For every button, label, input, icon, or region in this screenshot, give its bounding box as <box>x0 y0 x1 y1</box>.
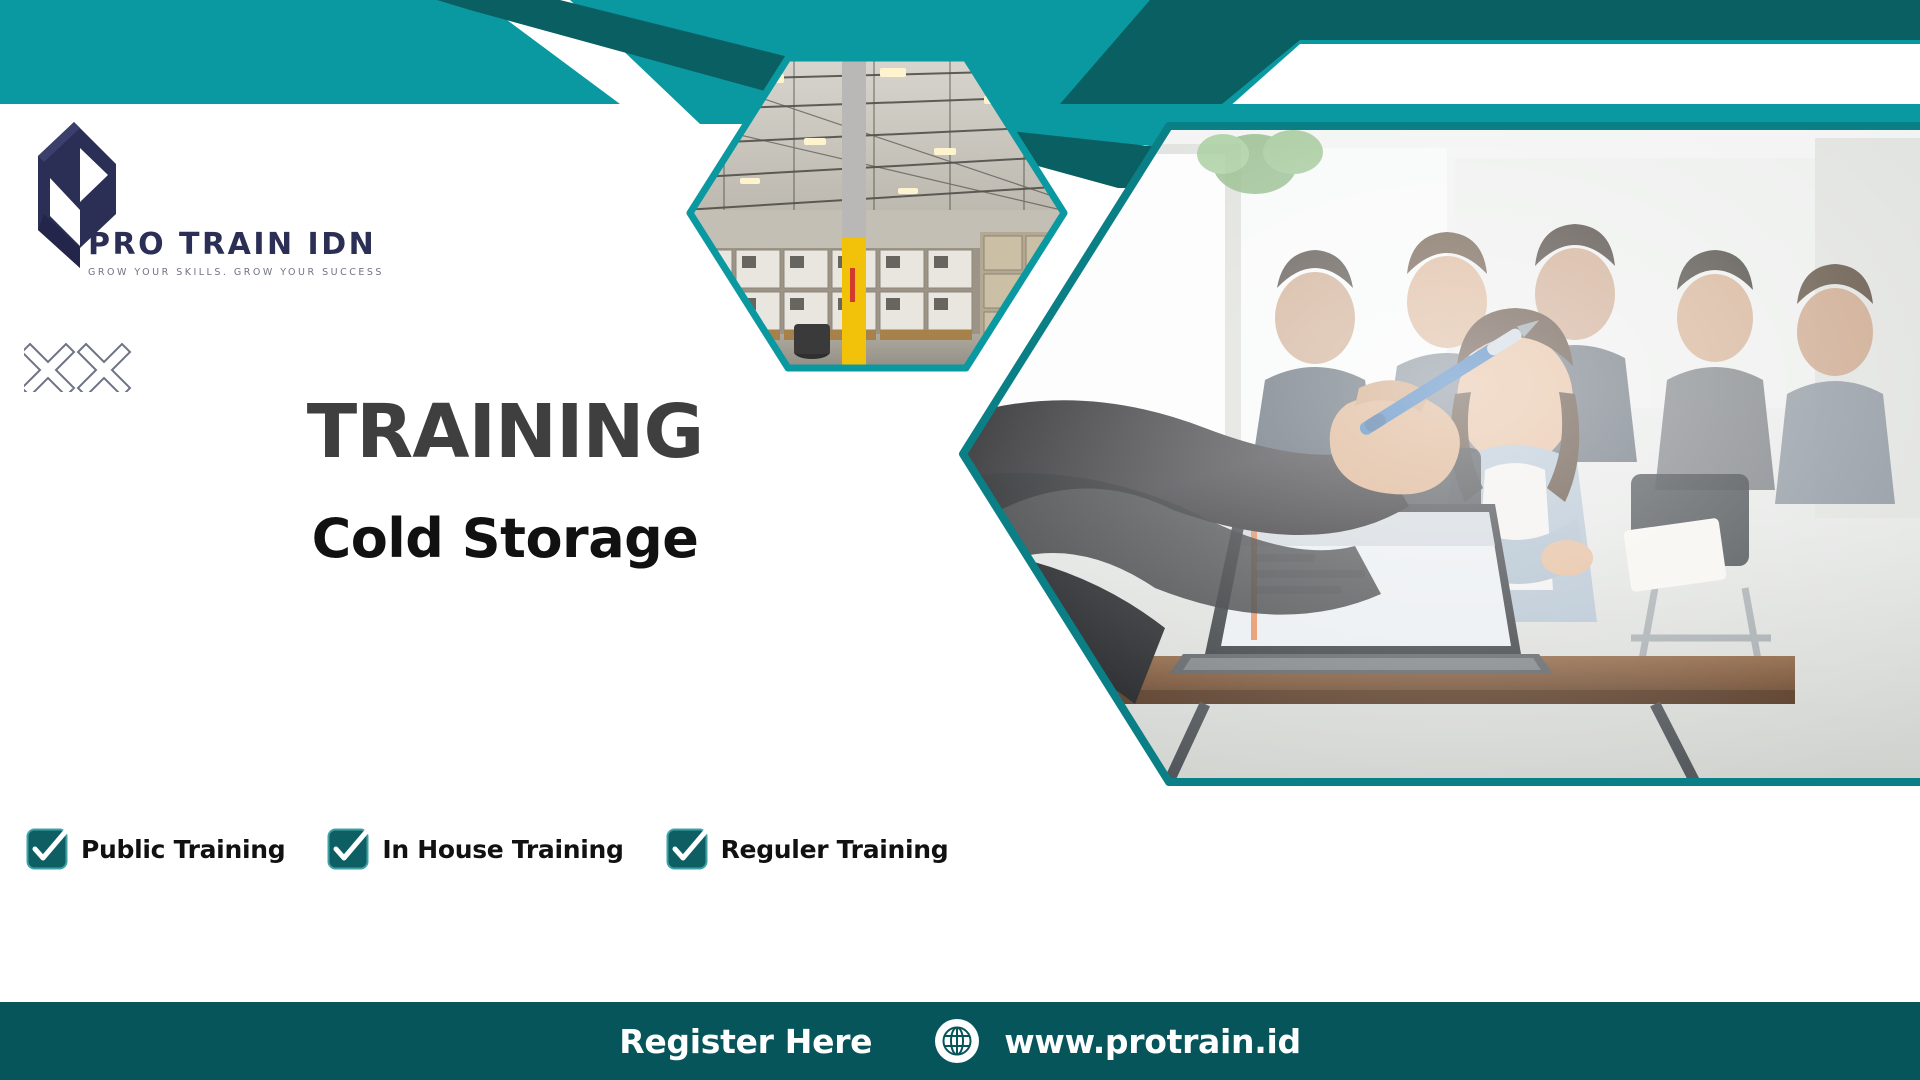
promotional-poster: PRO TRAIN IDN GROW YOUR SKILLS. GROW YOU… <box>0 0 1920 1080</box>
checkmark-icon <box>327 828 369 870</box>
page-title: TRAINING <box>0 395 1010 469</box>
checkmark-icon <box>26 828 68 870</box>
globe-icon <box>934 1018 980 1064</box>
brand-name: PRO TRAIN IDN <box>88 230 384 260</box>
brand-logo-text: PRO TRAIN IDN GROW YOUR SKILLS. GROW YOU… <box>88 230 384 278</box>
training-classroom-content <box>955 118 1920 790</box>
page-subtitle: Cold Storage <box>0 512 1010 566</box>
list-item-label: Reguler Training <box>721 835 949 864</box>
band-dark-topright <box>1060 0 1920 104</box>
list-item[interactable]: In House Training <box>327 828 623 870</box>
website-url[interactable]: www.protrain.id <box>1004 1022 1301 1061</box>
list-item[interactable]: Public Training <box>26 828 285 870</box>
training-classroom-photo <box>955 118 1920 790</box>
x-decoration-left <box>24 340 132 397</box>
footer-bar: Register Here www.protrain.id <box>0 1002 1920 1080</box>
x-decoration-middle <box>938 892 1046 949</box>
register-here-label[interactable]: Register Here <box>619 1022 872 1061</box>
headline-block: TRAINING Cold Storage <box>0 395 1010 566</box>
website-block[interactable]: www.protrain.id <box>934 1018 1301 1064</box>
checkmark-icon <box>666 828 708 870</box>
list-item[interactable]: Reguler Training <box>666 828 949 870</box>
list-item-label: Public Training <box>81 835 285 864</box>
brand-tagline: GROW YOUR SKILLS. GROW YOUR SUCCESS <box>88 267 384 278</box>
training-type-list: Public Training In House Training Regule… <box>26 828 948 870</box>
list-item-label: In House Training <box>382 835 623 864</box>
